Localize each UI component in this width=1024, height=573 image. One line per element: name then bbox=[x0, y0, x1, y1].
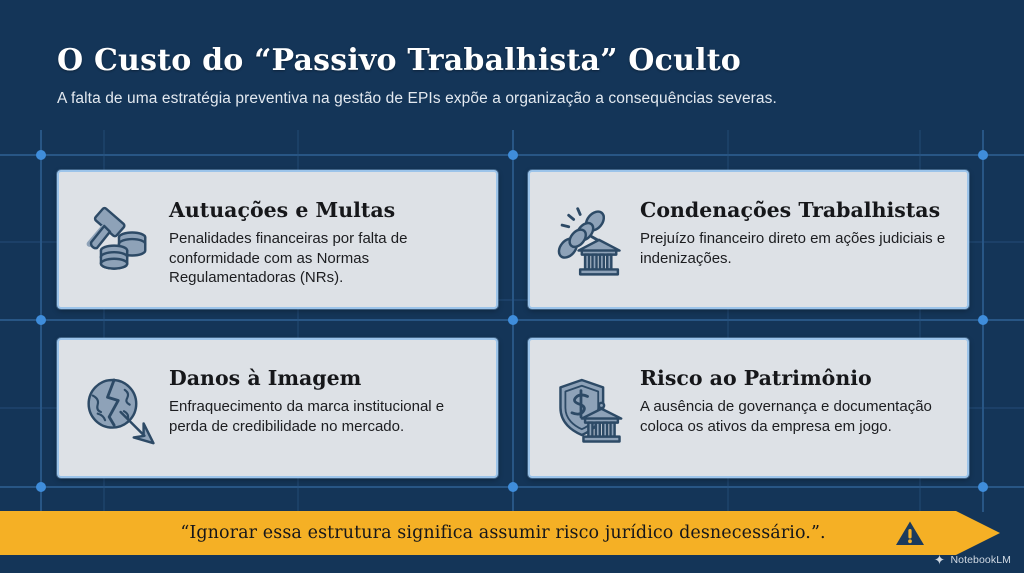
gavel-coins-icon bbox=[73, 198, 165, 290]
card-description: Penalidades financeiras por falta de con… bbox=[169, 229, 480, 289]
header: O Custo do “Passivo Trabalhista” Oculto … bbox=[57, 44, 977, 108]
card-description: A ausência de governança e documentação … bbox=[640, 397, 951, 437]
card-description: Enfraquecimento da marca institucional e… bbox=[169, 397, 480, 437]
page-title: O Custo do “Passivo Trabalhista” Oculto bbox=[57, 44, 977, 79]
card-title: Condenações Trabalhistas bbox=[640, 198, 951, 223]
notebooklm-watermark: NotebookLM bbox=[933, 553, 1011, 566]
card-title: Autuações e Multas bbox=[169, 198, 480, 223]
risk-card-autuacoes-e-multas[interactable]: Autuações e Multas Penalidades financeir… bbox=[57, 170, 498, 309]
watermark-label: NotebookLM bbox=[950, 554, 1011, 566]
card-title: Risco ao Patrimônio bbox=[640, 366, 951, 391]
page-subtitle: A falta de uma estratégia preventiva na … bbox=[57, 90, 977, 108]
risk-card-condenacoes-trabalhistas[interactable]: Condenações Trabalhistas Prejuízo financ… bbox=[528, 170, 969, 309]
risk-card-danos-a-imagem[interactable]: Danos à Imagem Enfraquecimento da marca … bbox=[57, 338, 498, 478]
banner-quote: “Ignorar essa estrutura significa assumi… bbox=[0, 511, 886, 555]
broken-chain-courthouse-icon bbox=[544, 198, 636, 290]
card-body: Autuações e Multas Penalidades financeir… bbox=[165, 186, 480, 288]
risk-card-risco-ao-patrimonio[interactable]: Risco ao Patrimônio A ausência de govern… bbox=[528, 338, 969, 478]
cracked-globe-arrow-icon bbox=[73, 366, 165, 458]
bottom-banner: “Ignorar essa estrutura significa assumi… bbox=[0, 511, 1024, 555]
notebooklm-logo-icon bbox=[933, 553, 946, 566]
card-body: Condenações Trabalhistas Prejuízo financ… bbox=[636, 186, 951, 268]
card-body: Risco ao Patrimônio A ausência de govern… bbox=[636, 354, 951, 436]
card-body: Danos à Imagem Enfraquecimento da marca … bbox=[165, 354, 480, 436]
shield-dollar-courthouse-icon bbox=[544, 366, 636, 458]
card-title: Danos à Imagem bbox=[169, 366, 480, 391]
warning-triangle-icon bbox=[895, 520, 925, 547]
card-description: Prejuízo financeiro direto em ações judi… bbox=[640, 229, 951, 269]
